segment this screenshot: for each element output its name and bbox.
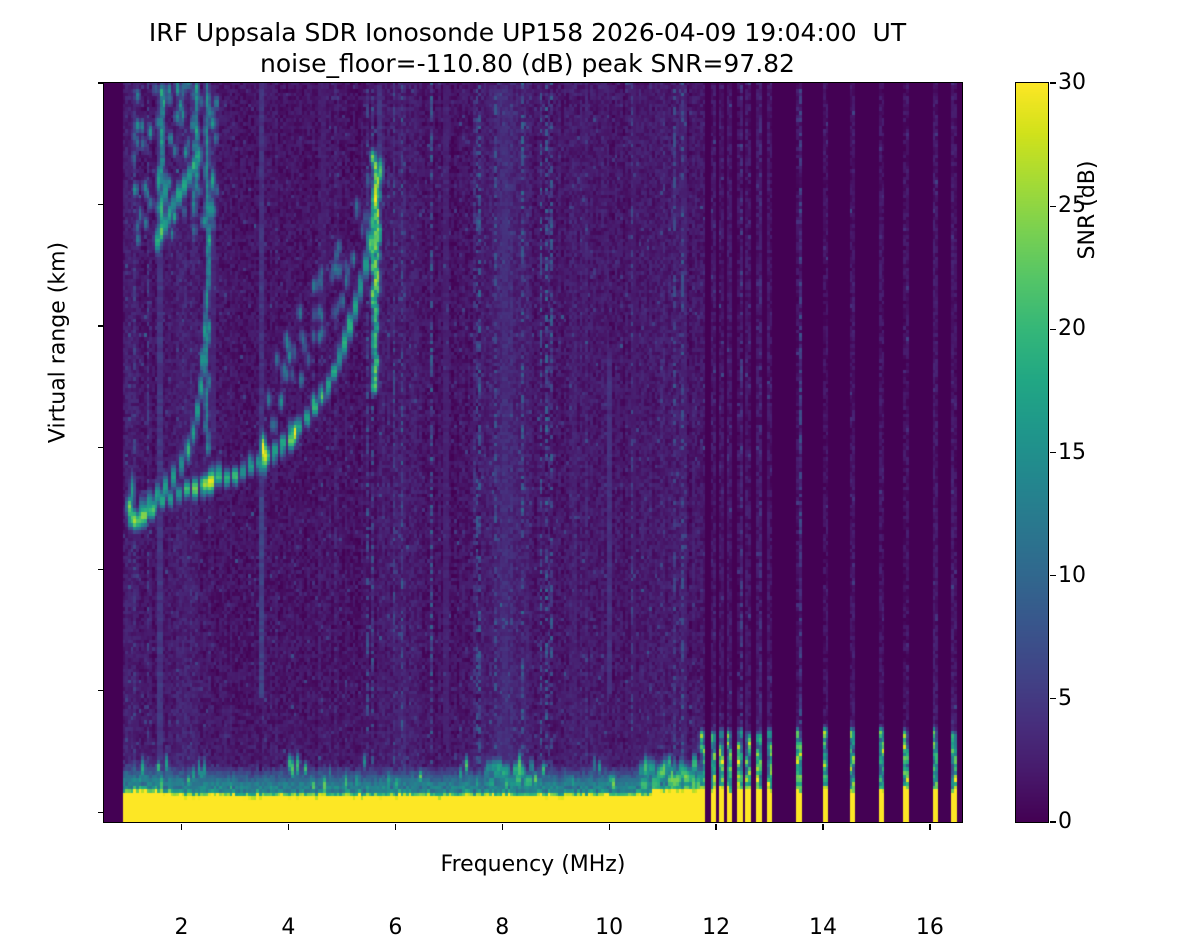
x-tick-label: 4 <box>248 915 328 940</box>
colorbar-tick-mark <box>1050 698 1056 699</box>
colorbar-label: SNR (dB) <box>1075 80 1100 340</box>
y-tick-mark <box>98 447 104 448</box>
x-tick-label: 6 <box>355 915 435 940</box>
x-tick-label: 8 <box>462 915 542 940</box>
x-tick-mark <box>395 824 396 830</box>
title-line-2: noise_floor=-110.80 (dB) peak SNR=97.82 <box>0 49 1055 80</box>
colorbar-tick-label: 0 <box>1058 809 1072 834</box>
colorbar-tick-label: 5 <box>1058 686 1072 711</box>
x-tick-mark <box>822 824 823 830</box>
ionogram-plot-area[interactable]: 0100200300400500600 246810121416 <box>103 82 963 823</box>
x-tick-label: 10 <box>569 915 649 940</box>
x-tick-mark <box>715 824 716 830</box>
title-line-1: IRF Uppsala SDR Ionosonde UP158 2026-04-… <box>0 18 1055 49</box>
colorbar-tick-mark <box>1050 82 1056 83</box>
x-axis-label: Frequency (MHz) <box>103 852 963 877</box>
x-tick-label: 12 <box>676 915 756 940</box>
colorbar-tick-mark <box>1050 329 1056 330</box>
colorbar-tick-mark <box>1050 821 1056 822</box>
x-tick-mark <box>288 824 289 830</box>
x-tick-mark <box>181 824 182 830</box>
x-tick-mark <box>929 824 930 830</box>
colorbar-tick-mark <box>1050 452 1056 453</box>
x-tick-label: 16 <box>890 915 970 940</box>
y-tick-mark <box>98 690 104 691</box>
colorbar-tick-label: 15 <box>1058 440 1086 465</box>
x-tick-label: 2 <box>142 915 222 940</box>
colorbar-tick-mark <box>1050 206 1056 207</box>
colorbar-tick-mark <box>1050 575 1056 576</box>
x-tick-mark <box>609 824 610 830</box>
x-tick-label: 14 <box>783 915 863 940</box>
ionogram-figure: IRF Uppsala SDR Ionosonde UP158 2026-04-… <box>0 0 1200 900</box>
y-tick-mark <box>98 82 104 83</box>
colorbar-gradient <box>1016 83 1048 822</box>
y-tick-mark <box>98 812 104 813</box>
y-tick-mark <box>98 569 104 570</box>
figure-title: IRF Uppsala SDR Ionosonde UP158 2026-04-… <box>0 18 1055 79</box>
y-tick-mark <box>98 204 104 205</box>
x-tick-mark <box>502 824 503 830</box>
colorbar[interactable]: 051015202530 <box>1015 82 1049 823</box>
colorbar-tick-label: 10 <box>1058 563 1086 588</box>
ionogram-heatmap[interactable] <box>104 83 962 822</box>
y-axis-label: Virtual range (km) <box>46 0 71 723</box>
y-tick-mark <box>98 325 104 326</box>
